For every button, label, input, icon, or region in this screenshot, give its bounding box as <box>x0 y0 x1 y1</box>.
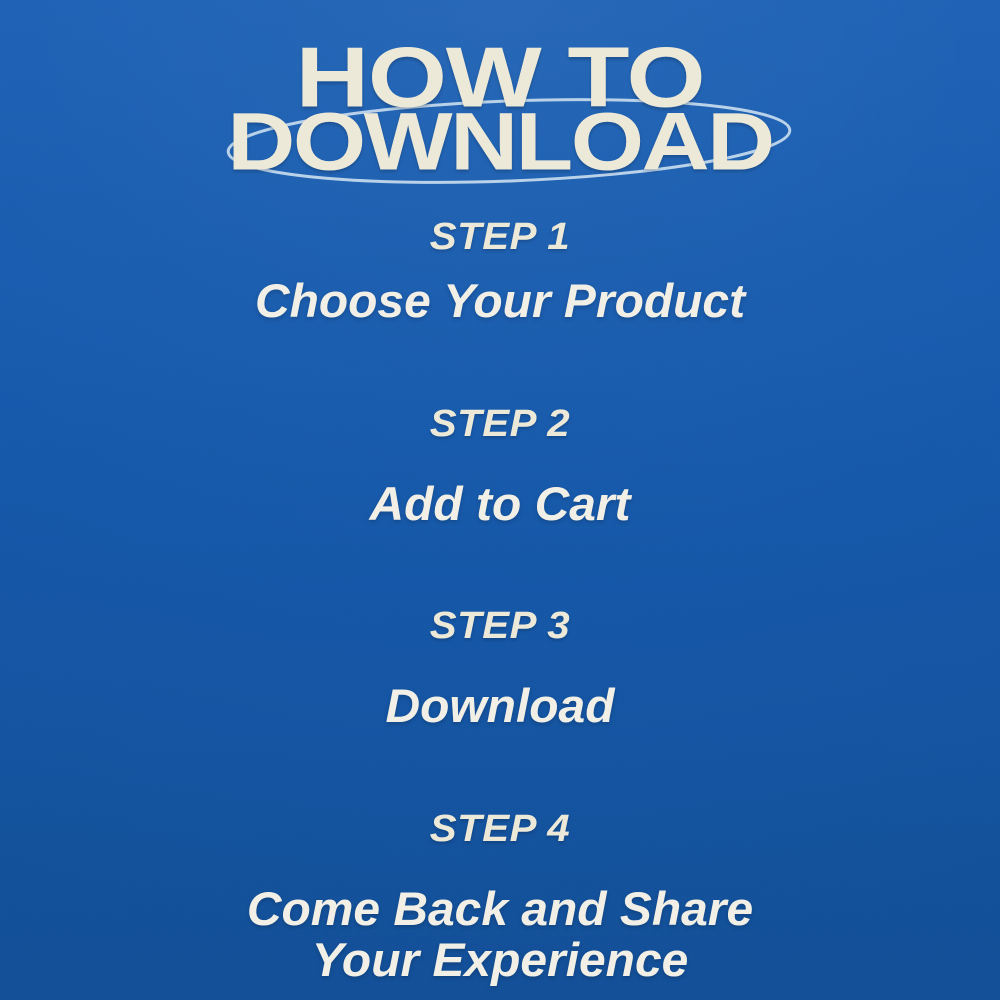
spacer <box>0 850 1000 884</box>
step-4-label: STEP 4 <box>0 810 1000 850</box>
step-2-title-line-1: Add to Cart <box>0 479 1000 530</box>
step-1-title-line-1: Choose Your Product <box>0 276 1000 327</box>
poster-header: HOW TO DOWNLOAD <box>0 26 1000 206</box>
spacer <box>0 445 1000 479</box>
page-title-line-2: DOWNLOAD <box>0 102 1000 183</box>
step-2-label: STEP 2 <box>0 405 1000 445</box>
step-item-4: STEP 4 Come Back and Share Your Experien… <box>0 732 1000 985</box>
step-item-2: STEP 2 Add to Cart <box>0 327 1000 530</box>
step-4-title-line-2: Your Experience <box>0 935 1000 986</box>
how-to-download-poster: HOW TO DOWNLOAD STEP 1 Choose Your Produ… <box>0 0 1000 1000</box>
step-item-3: STEP 3 Download <box>0 529 1000 732</box>
step-item-1: STEP 1 Choose Your Product <box>0 206 1000 327</box>
step-4-title-line-1: Come Back and Share <box>0 884 1000 935</box>
step-3-label: STEP 3 <box>0 607 1000 647</box>
spacer <box>0 647 1000 681</box>
step-1-label: STEP 1 <box>0 218 1000 258</box>
steps-list: STEP 1 Choose Your Product STEP 2 Add to… <box>0 206 1000 985</box>
step-3-title-line-1: Download <box>0 681 1000 732</box>
